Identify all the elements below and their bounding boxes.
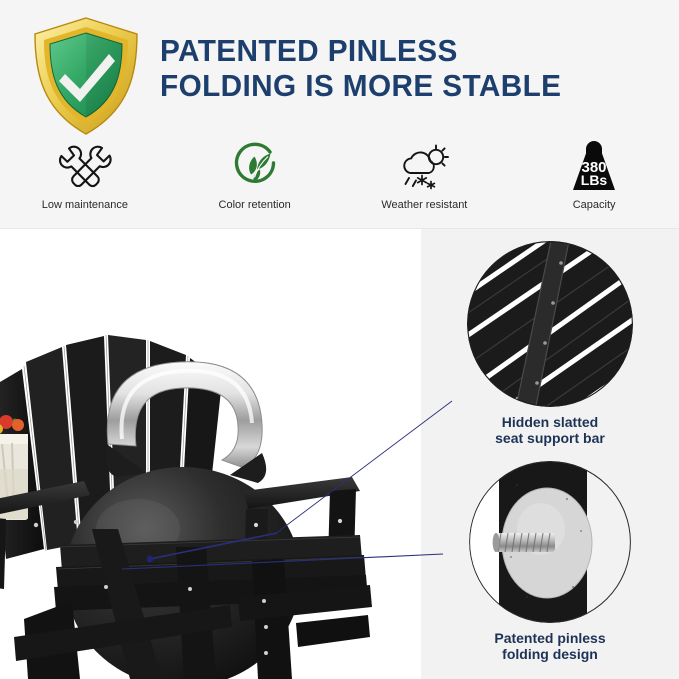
- wrench-screwdriver-icon: [58, 140, 112, 192]
- callout-label-line-1: Patented pinless: [435, 630, 665, 646]
- callout-label: Patented pinless folding design: [435, 630, 665, 662]
- callout-panel: Hidden slatted seat support bar: [421, 229, 679, 679]
- header-banner: PATENTED PINLESS FOLDING IS MORE STABLE …: [0, 0, 679, 229]
- feature-label: Color retention: [219, 199, 291, 211]
- leaf-circle-icon: [230, 140, 280, 192]
- feature-label: Capacity: [573, 199, 616, 211]
- infographic-page: PATENTED PINLESS FOLDING IS MORE STABLE …: [0, 0, 679, 679]
- callout-image-slats: [467, 241, 633, 407]
- callout-label-line-1: Hidden slatted: [439, 414, 661, 430]
- cloud-sun-rain-snow-icon: [396, 140, 452, 192]
- feature-row: Low maintenance Color retention: [0, 140, 679, 225]
- feature-color-retention: Color retention: [170, 140, 340, 225]
- headline-line-1: PATENTED PINLESS: [160, 33, 640, 68]
- feature-low-maintenance: Low maintenance: [0, 140, 170, 225]
- callout-label-line-2: seat support bar: [439, 430, 661, 446]
- page-title: PATENTED PINLESS FOLDING IS MORE STABLE: [160, 33, 640, 103]
- feature-capacity: 380 LBs Capacity: [509, 140, 679, 225]
- weight-unit: LBs: [581, 172, 608, 188]
- weight-380lbs-icon: 380 LBs: [568, 140, 620, 192]
- callout-image-pivot: [469, 461, 631, 623]
- feature-label: Weather resistant: [381, 199, 467, 211]
- shield-check-icon: [25, 12, 147, 140]
- feature-weather-resistant: Weather resistant: [340, 140, 510, 225]
- callout-label: Hidden slatted seat support bar: [439, 414, 661, 446]
- product-photo: 380LBs: [0, 229, 421, 679]
- headline-line-2: FOLDING IS MORE STABLE: [160, 68, 640, 103]
- feature-label: Low maintenance: [42, 199, 128, 211]
- callout-hidden-slatted-seat-support-bar: Hidden slatted seat support bar: [439, 241, 661, 446]
- callout-patented-pinless-folding-design: Patented pinless folding design: [435, 461, 665, 662]
- callout-label-line-2: folding design: [435, 646, 665, 662]
